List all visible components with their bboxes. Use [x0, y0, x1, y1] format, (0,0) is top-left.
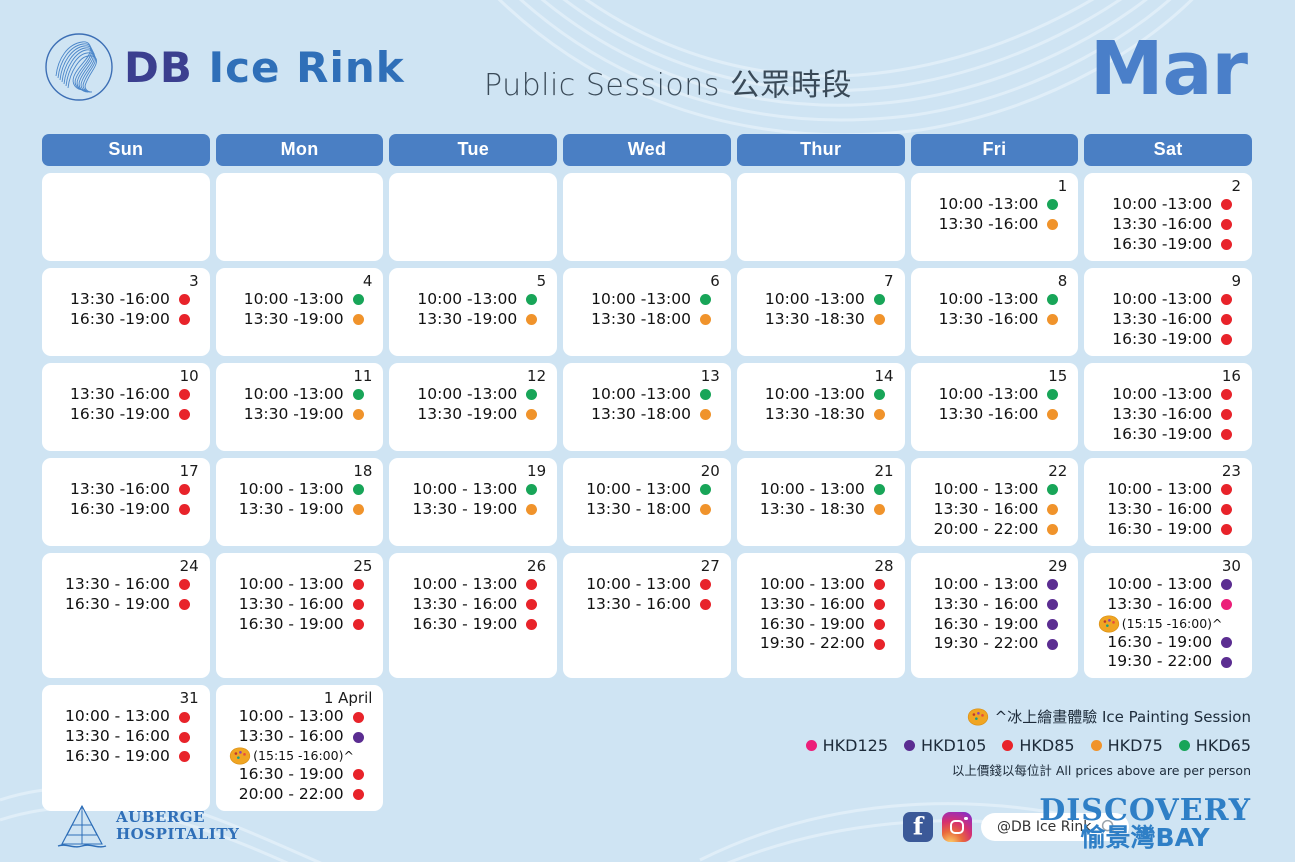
- session-slot: 13:30 - 16:00: [236, 727, 364, 747]
- session-time: 10:00 -13:00: [409, 385, 517, 405]
- session-time: 13:30 - 16:00: [236, 727, 344, 747]
- legend-color-dot: [904, 740, 915, 751]
- session-slot: 13:30 -16:00: [1104, 310, 1232, 330]
- session-list: 10:00 -13:0013:30 -18:30: [747, 385, 895, 425]
- session-slot: 13:30 - 16:00: [62, 727, 190, 747]
- session-time: 16:30 - 19:00: [62, 595, 170, 615]
- price-dot: [874, 314, 885, 325]
- day-number: 27: [701, 557, 720, 575]
- price-dot: [179, 732, 190, 743]
- session-time: 10:00 - 13:00: [757, 575, 865, 595]
- session-slot: 13:30 -18:00: [583, 310, 711, 330]
- price-dot: [179, 294, 190, 305]
- session-slot: 13:30 -16:00: [930, 310, 1058, 330]
- price-dot: [1047, 504, 1058, 515]
- day-number: 11: [353, 367, 372, 385]
- calendar-week-row: 110:00 -13:0013:30 -16:00210:00 -13:0013…: [42, 173, 1252, 261]
- session-time: 16:30 - 19:00: [236, 615, 344, 635]
- price-dot: [874, 504, 885, 515]
- calendar-week-row: 2413:30 - 16:0016:30 - 19:002510:00 - 13…: [42, 553, 1252, 678]
- price-dot: [700, 579, 711, 590]
- day-number: 23: [1222, 462, 1241, 480]
- session-time: 16:30 - 19:00: [1104, 520, 1212, 540]
- calendar-day-27[interactable]: 2710:00 - 13:0013:30 - 16:00: [563, 553, 731, 678]
- calendar-day-1[interactable]: 110:00 -13:0013:30 -16:00: [911, 173, 1079, 261]
- session-slot: 16:30 -19:00: [62, 500, 190, 520]
- day-number: 15: [1048, 367, 1067, 385]
- price-dot: [179, 579, 190, 590]
- day-number: 1 April: [324, 689, 373, 707]
- session-list: 10:00 - 13:0013:30 - 16:0016:30 - 19:00: [52, 707, 200, 766]
- session-list: 13:30 -16:0016:30 -19:00: [52, 385, 200, 425]
- session-time: 16:30 - 19:00: [62, 747, 170, 767]
- price-dot: [179, 504, 190, 515]
- session-slot: 13:30 -18:00: [583, 405, 711, 425]
- price-dot: [353, 789, 364, 800]
- calendar-day-6[interactable]: 610:00 -13:0013:30 -18:00: [563, 268, 731, 356]
- session-list: 10:00 -13:0013:30 -16:0016:30 -19:00: [1094, 290, 1242, 349]
- calendar-day-23[interactable]: 2310:00 - 13:0013:30 - 16:0016:30 - 19:0…: [1084, 458, 1252, 546]
- day-number: 28: [874, 557, 893, 575]
- price-dot: [874, 599, 885, 610]
- session-time: 10:00 - 13:00: [409, 575, 517, 595]
- session-slot: 13:30 - 16:00: [757, 595, 885, 615]
- session-slot: 10:00 -13:00: [930, 290, 1058, 310]
- price-dot: [353, 484, 364, 495]
- calendar-day-empty: [42, 173, 210, 261]
- calendar-week-row: 313:30 -16:0016:30 -19:00410:00 -13:0013…: [42, 268, 1252, 356]
- legend-color-dot: [1002, 740, 1013, 751]
- legend-label: HKD105: [921, 736, 986, 755]
- day-number: 14: [874, 367, 893, 385]
- session-slot: 13:30 - 16:00: [1104, 595, 1232, 615]
- calendar-day-19[interactable]: 1910:00 - 13:0013:30 - 19:00: [389, 458, 557, 546]
- calendar-day-7[interactable]: 710:00 -13:0013:30 -18:30: [737, 268, 905, 356]
- session-time: 13:30 -16:00: [930, 310, 1038, 330]
- calendar-day-20[interactable]: 2010:00 - 13:0013:30 - 18:00: [563, 458, 731, 546]
- session-time: 10:00 - 13:00: [930, 480, 1038, 500]
- price-dot: [353, 389, 364, 400]
- session-list: 10:00 -13:0013:30 -19:00: [226, 385, 374, 425]
- weekday-header-row: SunMonTueWedThurFriSat: [42, 134, 1252, 166]
- price-dot: [353, 294, 364, 305]
- session-time: 10:00 -13:00: [757, 385, 865, 405]
- price-dot: [353, 732, 364, 743]
- session-slot: 16:30 - 19:00: [757, 615, 885, 635]
- session-list: 10:00 - 13:0013:30 - 16:00(15:15 -16:00)…: [226, 707, 374, 804]
- session-slot: 16:30 - 19:00: [236, 765, 364, 785]
- calendar-day-3[interactable]: 313:30 -16:0016:30 -19:00: [42, 268, 210, 356]
- day-number: 22: [1048, 462, 1067, 480]
- session-slot: 10:00 - 13:00: [930, 480, 1058, 500]
- calendar-day-17[interactable]: 1713:30 -16:0016:30 -19:00: [42, 458, 210, 546]
- calendar-week-row: 1013:30 -16:0016:30 -19:001110:00 -13:00…: [42, 363, 1252, 451]
- session-slot: 13:30 -19:00: [409, 310, 537, 330]
- price-dot: [874, 579, 885, 590]
- session-slot: 16:30 -19:00: [62, 405, 190, 425]
- session-time: 10:00 - 13:00: [236, 480, 344, 500]
- legend-per-person-note: 以上價錢以每位計 All prices above are per person: [781, 760, 1251, 779]
- price-dot: [1047, 409, 1058, 420]
- day-number: 13: [701, 367, 720, 385]
- session-slot: 16:30 - 19:00: [1104, 520, 1232, 540]
- session-slot: 13:30 - 19:00: [236, 500, 364, 520]
- calendar-day-13[interactable]: 1310:00 -13:0013:30 -18:00: [563, 363, 731, 451]
- session-list: 10:00 -13:0013:30 -19:00: [399, 290, 547, 330]
- calendar-day-5[interactable]: 510:00 -13:0013:30 -19:00: [389, 268, 557, 356]
- calendar-day-empty: [737, 173, 905, 261]
- day-number: 10: [180, 367, 199, 385]
- price-dot: [874, 619, 885, 630]
- legend-color-dot: [1179, 740, 1190, 751]
- session-slot: 16:30 -19:00: [62, 310, 190, 330]
- session-slot: 13:30 -16:00: [1104, 215, 1232, 235]
- logo-wordmark: DB Ice Rink: [124, 43, 405, 92]
- facebook-icon[interactable]: [903, 812, 933, 842]
- session-time: 16:30 -19:00: [62, 310, 170, 330]
- legend-label: HKD75: [1108, 736, 1163, 755]
- session-time: 10:00 -13:00: [757, 290, 865, 310]
- session-list: 10:00 -13:0013:30 -18:00: [573, 385, 721, 425]
- calendar-day-1[interactable]: 1 April10:00 - 13:0013:30 - 16:00(15:15 …: [216, 685, 384, 810]
- legend-item-hkd125: HKD125: [806, 736, 888, 755]
- session-slot: 10:00 - 13:00: [409, 480, 537, 500]
- session-time: 13:30 -19:00: [236, 310, 344, 330]
- calendar-day-8[interactable]: 810:00 -13:0013:30 -16:00: [911, 268, 1079, 356]
- session-list: 10:00 -13:0013:30 -16:0016:30 -19:00: [1094, 385, 1242, 444]
- session-list: 10:00 - 13:0013:30 - 19:00: [226, 480, 374, 520]
- session-slot: 16:30 - 19:00: [930, 615, 1058, 635]
- calendar-day-2[interactable]: 210:00 -13:0013:30 -16:0016:30 -19:00: [1084, 173, 1252, 261]
- day-number: 6: [710, 272, 720, 290]
- price-dot: [874, 484, 885, 495]
- session-time: 10:00 - 13:00: [1104, 575, 1212, 595]
- session-time: 10:00 - 13:00: [757, 480, 865, 500]
- calendar-day-empty: [216, 173, 384, 261]
- session-time: 13:30 -16:00: [1104, 215, 1212, 235]
- session-slot: 13:30 -18:30: [757, 310, 885, 330]
- calendar-day-24[interactable]: 2413:30 - 16:0016:30 - 19:00: [42, 553, 210, 678]
- session-time: 16:30 -19:00: [62, 405, 170, 425]
- day-number: 1: [1058, 177, 1068, 195]
- db-ice-rink-logo: DB Ice Rink: [44, 32, 405, 102]
- legend-color-dot: [806, 740, 817, 751]
- session-list: 13:30 -16:0016:30 -19:00: [52, 480, 200, 520]
- price-dot: [179, 389, 190, 400]
- instagram-icon[interactable]: [942, 812, 972, 842]
- session-slot: 19:30 - 22:00: [757, 634, 885, 654]
- calendar-day-30[interactable]: 3010:00 - 13:0013:30 - 16:00(15:15 -16:0…: [1084, 553, 1252, 678]
- session-list: 10:00 -13:0013:30 -16:00: [921, 385, 1069, 425]
- session-list: 10:00 - 13:0013:30 - 18:30: [747, 480, 895, 520]
- price-dot: [1221, 657, 1232, 668]
- session-slot: 10:00 -13:00: [1104, 195, 1232, 215]
- session-time: 13:30 - 16:00: [236, 595, 344, 615]
- session-time: 13:30 -18:30: [757, 405, 865, 425]
- calendar-day-21[interactable]: 2110:00 - 13:0013:30 - 18:30: [737, 458, 905, 546]
- session-time: 19:30 - 22:00: [930, 634, 1038, 654]
- legend-ice-painting: ^冰上繪畫體驗 Ice Painting Session: [781, 706, 1251, 727]
- session-slot: 13:30 - 16:00: [409, 595, 537, 615]
- ice-painting-time-note: (15:15 -16:00)^: [1122, 616, 1223, 632]
- session-time: 13:30 -16:00: [62, 385, 170, 405]
- session-slot: 10:00 - 13:00: [757, 480, 885, 500]
- session-list: 10:00 - 13:0013:30 - 16:0016:30 - 19:001…: [921, 575, 1069, 654]
- session-time: 10:00 -13:00: [583, 385, 691, 405]
- price-dot: [1221, 579, 1232, 590]
- price-dot: [700, 409, 711, 420]
- session-list: 10:00 - 13:0013:30 - 19:00: [399, 480, 547, 520]
- session-slot: 20:00 - 22:00: [236, 785, 364, 805]
- session-slot: 10:00 -13:00: [930, 385, 1058, 405]
- session-list: 10:00 - 13:0013:30 - 16:0016:30 - 19:00: [1094, 480, 1242, 539]
- session-time: 13:30 -19:00: [236, 405, 344, 425]
- session-time: 10:00 - 13:00: [409, 480, 517, 500]
- session-slot: 13:30 -19:00: [409, 405, 537, 425]
- session-time: 13:30 -18:30: [757, 310, 865, 330]
- auberge-line-2: HOSPITALITY: [116, 826, 239, 843]
- price-dot: [179, 409, 190, 420]
- price-dot: [526, 504, 537, 515]
- session-slot: 13:30 - 18:30: [757, 500, 885, 520]
- session-time: 13:30 - 19:00: [409, 500, 517, 520]
- price-dot: [1047, 599, 1058, 610]
- price-dot: [353, 769, 364, 780]
- session-time: 20:00 - 22:00: [930, 520, 1038, 540]
- session-time: 13:30 -16:00: [62, 480, 170, 500]
- day-number: 5: [537, 272, 547, 290]
- session-slot: 10:00 - 13:00: [930, 575, 1058, 595]
- calendar-day-15[interactable]: 1510:00 -13:0013:30 -16:00: [911, 363, 1079, 451]
- price-dot: [874, 294, 885, 305]
- calendar-day-28[interactable]: 2810:00 - 13:0013:30 - 16:0016:30 - 19:0…: [737, 553, 905, 678]
- session-time: 10:00 - 13:00: [236, 707, 344, 727]
- price-dot: [1047, 389, 1058, 400]
- price-dot: [353, 712, 364, 723]
- session-time: 16:30 - 19:00: [1104, 633, 1212, 653]
- session-slot: 16:30 - 19:00: [1104, 633, 1232, 653]
- auberge-mark-icon: [56, 802, 108, 850]
- paint-palette-icon: [229, 747, 251, 765]
- calendar-day-18[interactable]: 1810:00 - 13:0013:30 - 19:00: [216, 458, 384, 546]
- session-time: 13:30 - 16:00: [930, 595, 1038, 615]
- auberge-hospitality-logo: AUBERGE HOSPITALITY: [56, 802, 239, 850]
- session-slot: 19:30 - 22:00: [930, 634, 1058, 654]
- session-time: 10:00 -13:00: [583, 290, 691, 310]
- session-slot: 10:00 -13:00: [409, 385, 537, 405]
- session-slot: 16:30 -19:00: [1104, 235, 1232, 255]
- session-time: 16:30 - 19:00: [409, 615, 517, 635]
- price-dot: [1221, 524, 1232, 535]
- session-list: 13:30 -16:0016:30 -19:00: [52, 290, 200, 330]
- day-number: 21: [874, 462, 893, 480]
- session-slot: 10:00 -13:00: [930, 195, 1058, 215]
- day-number: 25: [353, 557, 372, 575]
- weekday-header-wed: Wed: [563, 134, 731, 166]
- price-dot: [1047, 619, 1058, 630]
- paint-palette-icon: [1098, 615, 1120, 633]
- session-list: 10:00 - 13:0013:30 - 16:0016:30 - 19:001…: [747, 575, 895, 654]
- session-slot: 13:30 - 16:00: [236, 595, 364, 615]
- session-time: 16:30 -19:00: [1104, 425, 1212, 445]
- price-dot: [1221, 637, 1232, 648]
- price-dot: [179, 314, 190, 325]
- session-slot: 10:00 - 13:00: [62, 707, 190, 727]
- price-dot: [179, 712, 190, 723]
- session-time: 13:30 -19:00: [409, 405, 517, 425]
- day-number: 30: [1222, 557, 1241, 575]
- calendar-day-9[interactable]: 910:00 -13:0013:30 -16:0016:30 -19:00: [1084, 268, 1252, 356]
- session-slot: 16:30 -19:00: [1104, 330, 1232, 350]
- session-slot: 13:30 - 16:00: [930, 595, 1058, 615]
- session-time: 10:00 -13:00: [1104, 195, 1212, 215]
- session-list: 10:00 - 13:0013:30 - 16:0016:30 - 19:00: [399, 575, 547, 634]
- price-dot: [1221, 504, 1232, 515]
- price-dot: [1221, 219, 1232, 230]
- session-time: 13:30 - 16:00: [1104, 500, 1212, 520]
- session-slot: 13:30 -16:00: [62, 385, 190, 405]
- session-time: 13:30 -16:00: [1104, 310, 1212, 330]
- price-dot: [1221, 294, 1232, 305]
- calendar-day-11[interactable]: 1110:00 -13:0013:30 -19:00: [216, 363, 384, 451]
- session-slot: 13:30 -16:00: [1104, 405, 1232, 425]
- instagram-lens-icon: [950, 820, 964, 834]
- day-number: 29: [1048, 557, 1067, 575]
- legend-item-hkd85: HKD85: [1002, 736, 1074, 755]
- weekday-header-thur: Thur: [737, 134, 905, 166]
- calendar-day-22[interactable]: 2210:00 - 13:0013:30 - 16:0020:00 - 22:0…: [911, 458, 1079, 546]
- session-slot: 10:00 -13:00: [583, 385, 711, 405]
- session-list: 10:00 -13:0013:30 -19:00: [399, 385, 547, 425]
- ice-rink-logo-icon: [44, 32, 114, 102]
- weekday-header-fri: Fri: [911, 134, 1079, 166]
- session-slot: 13:30 -16:00: [62, 290, 190, 310]
- price-dot: [1221, 429, 1232, 440]
- legend: ^冰上繪畫體驗 Ice Painting Session HKD125HKD10…: [781, 706, 1251, 779]
- session-slot: 10:00 -13:00: [1104, 290, 1232, 310]
- session-slot: 10:00 - 13:00: [1104, 575, 1232, 595]
- price-dot: [1047, 639, 1058, 650]
- session-list: 10:00 - 13:0013:30 - 16:0020:00 - 22:00: [921, 480, 1069, 539]
- price-dot: [353, 599, 364, 610]
- calendar-day-25[interactable]: 2510:00 - 13:0013:30 - 16:0016:30 - 19:0…: [216, 553, 384, 678]
- price-dot: [1221, 199, 1232, 210]
- ice-painting-note-row: (15:15 -16:00)^: [229, 747, 354, 765]
- paint-palette-icon: [967, 708, 989, 726]
- calendar-day-empty: [389, 173, 557, 261]
- session-time: 10:00 -13:00: [930, 195, 1038, 215]
- session-time: 16:30 - 19:00: [757, 615, 865, 635]
- session-slot: 10:00 -13:00: [583, 290, 711, 310]
- session-time: 13:30 - 18:00: [583, 500, 691, 520]
- price-dot: [1221, 409, 1232, 420]
- session-slot: 13:30 - 16:00: [930, 500, 1058, 520]
- weekday-header-tue: Tue: [389, 134, 557, 166]
- weekday-header-sun: Sun: [42, 134, 210, 166]
- discovery-bay-en: DISCOVERY: [1039, 797, 1251, 826]
- session-list: 10:00 -13:0013:30 -18:30: [747, 290, 895, 330]
- session-time: 20:00 - 22:00: [236, 785, 344, 805]
- price-dot: [1047, 294, 1058, 305]
- session-slot: 13:30 -18:30: [757, 405, 885, 425]
- logo-db-text: DB: [124, 43, 193, 92]
- day-number: 24: [180, 557, 199, 575]
- session-time: 10:00 -13:00: [930, 385, 1038, 405]
- day-number: 31: [180, 689, 199, 707]
- calendar-cell-placeholder: [389, 685, 557, 810]
- calendar-day-16[interactable]: 1610:00 -13:0013:30 -16:0016:30 -19:00: [1084, 363, 1252, 451]
- calendar-day-31[interactable]: 3110:00 - 13:0013:30 - 16:0016:30 - 19:0…: [42, 685, 210, 810]
- price-dot: [526, 409, 537, 420]
- session-time: 10:00 - 13:00: [236, 575, 344, 595]
- day-number: 17: [180, 462, 199, 480]
- session-time: 10:00 -13:00: [1104, 290, 1212, 310]
- day-number: 2: [1231, 177, 1241, 195]
- session-time: 16:30 -19:00: [1104, 235, 1212, 255]
- calendar-cell-placeholder: [563, 685, 731, 810]
- day-number: 12: [527, 367, 546, 385]
- session-slot: 16:30 - 19:00: [62, 595, 190, 615]
- session-slot: 20:00 - 22:00: [930, 520, 1058, 540]
- day-number: 3: [189, 272, 199, 290]
- session-slot: 10:00 - 13:00: [583, 480, 711, 500]
- price-dot: [1221, 314, 1232, 325]
- day-number: 16: [1222, 367, 1241, 385]
- calendar-day-empty: [563, 173, 731, 261]
- auberge-text: AUBERGE HOSPITALITY: [116, 809, 239, 843]
- price-dot: [874, 639, 885, 650]
- calendar-day-26[interactable]: 2610:00 - 13:0013:30 - 16:0016:30 - 19:0…: [389, 553, 557, 678]
- session-time: 16:30 -19:00: [1104, 330, 1212, 350]
- session-time: 10:00 -13:00: [409, 290, 517, 310]
- legend-label: HKD125: [823, 736, 888, 755]
- session-slot: 16:30 - 19:00: [409, 615, 537, 635]
- session-slot: 13:30 -16:00: [62, 480, 190, 500]
- calendar-week-row: 1713:30 -16:0016:30 -19:001810:00 - 13:0…: [42, 458, 1252, 546]
- day-number: 18: [353, 462, 372, 480]
- session-time: 19:30 - 22:00: [1104, 652, 1212, 672]
- session-slot: 10:00 -13:00: [757, 385, 885, 405]
- session-slot: 13:30 - 16:00: [583, 595, 711, 615]
- calendar-day-4[interactable]: 410:00 -13:0013:30 -19:00: [216, 268, 384, 356]
- page-header: DB Ice Rink Public Sessions 公眾時段 Mar: [0, 0, 1295, 128]
- calendar-day-12[interactable]: 1210:00 -13:0013:30 -19:00: [389, 363, 557, 451]
- day-number: 19: [527, 462, 546, 480]
- session-time: 19:30 - 22:00: [757, 634, 865, 654]
- ice-painting-time-note: (15:15 -16:00)^: [253, 748, 354, 764]
- session-slot: 13:30 -19:00: [236, 405, 364, 425]
- calendar-day-14[interactable]: 1410:00 -13:0013:30 -18:30: [737, 363, 905, 451]
- price-dot: [700, 389, 711, 400]
- day-number: 20: [701, 462, 720, 480]
- session-list: 13:30 - 16:0016:30 - 19:00: [52, 575, 200, 615]
- session-time: 13:30 - 19:00: [236, 500, 344, 520]
- session-time: 13:30 - 16:00: [930, 500, 1038, 520]
- price-dot: [700, 294, 711, 305]
- auberge-line-1: AUBERGE: [116, 809, 239, 826]
- session-slot: 10:00 - 13:00: [236, 575, 364, 595]
- page-title: Public Sessions 公眾時段: [484, 60, 852, 104]
- session-slot: 10:00 -13:00: [1104, 385, 1232, 405]
- day-number: 8: [1058, 272, 1068, 290]
- legend-item-hkd75: HKD75: [1091, 736, 1163, 755]
- price-dot: [700, 599, 711, 610]
- price-dot: [353, 409, 364, 420]
- price-dot: [353, 619, 364, 630]
- price-dot: [1047, 484, 1058, 495]
- calendar-day-10[interactable]: 1013:30 -16:0016:30 -19:00: [42, 363, 210, 451]
- calendar-day-29[interactable]: 2910:00 - 13:0013:30 - 16:0016:30 - 19:0…: [911, 553, 1079, 678]
